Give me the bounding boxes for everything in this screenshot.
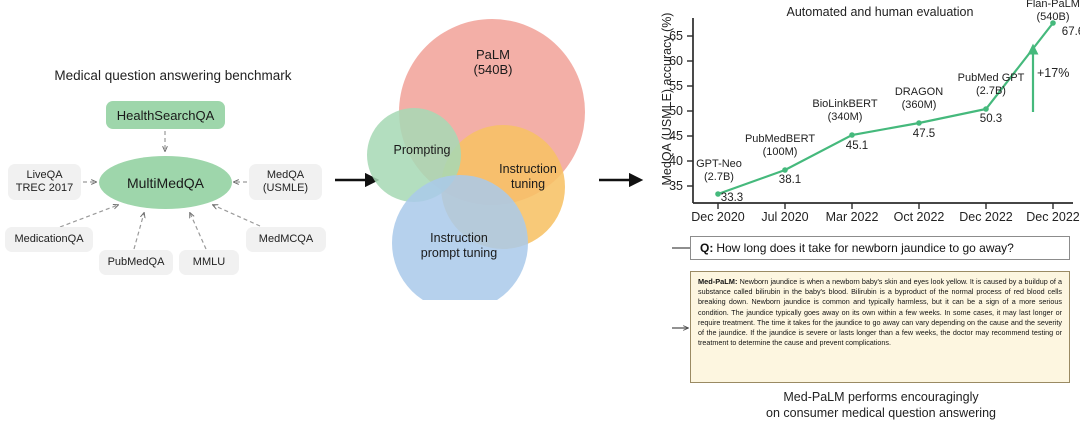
chart-point-label-flan-palm-line1: Flan-PaLM	[1026, 0, 1080, 10]
chart-point-label-dragon-line2: (360M)	[902, 99, 937, 111]
arrow-mmlu-to-center	[190, 213, 206, 249]
chart-point-label-flan-palm-line2: (540B)	[1036, 11, 1069, 23]
chart-point-label-dragon-line1: DRAGON	[895, 86, 943, 98]
node-multimedqa[interactable]: MultiMedQA	[99, 156, 232, 209]
node-medqa-line1: MedQA	[267, 169, 304, 181]
venn-label-ipt-line1: Instruction	[430, 231, 488, 245]
qa-question-prefix: Q:	[700, 241, 713, 255]
qa-panel: Q: How long does it take for newborn jau…	[672, 232, 1080, 428]
chart-ytick-45: 45	[661, 129, 683, 143]
chart-point-label-pubmedbert-line1: PubMedBERT	[745, 133, 815, 145]
qa-answer-prefix: Med-PaLM:	[698, 277, 737, 286]
benchmark-panel: Medical question answering benchmark Hea…	[0, 0, 345, 300]
node-medqa[interactable]: MedQA (USMLE)	[249, 164, 322, 200]
chart-xtick-3: Oct 2022	[883, 210, 955, 224]
venn-label-it-line2: tuning	[511, 177, 545, 191]
qa-answer-text: Newborn jaundice is when a newborn baby'…	[698, 277, 1062, 347]
chart-xtick-0: Dec 2020	[682, 210, 754, 224]
node-medmcqa[interactable]: MedMCQA	[246, 227, 326, 252]
venn-panel: PaLM (540B) Prompting Instruction tuning…	[345, 0, 595, 300]
chart-point-label-pubmed-gpt: PubMed GPT (2.7B)	[949, 72, 1033, 97]
node-liveqa[interactable]: LiveQA TREC 2017	[8, 164, 81, 200]
chart-xtick-5: Dec 2022	[1017, 210, 1080, 224]
node-medicationqa[interactable]: MedicationQA	[5, 227, 93, 252]
chart-point-label-pubmedbert-line2: (100M)	[763, 146, 798, 158]
chart-point-label-flan-palm: Flan-PaLM (540B)	[1015, 0, 1080, 23]
flow-arrow-2	[597, 167, 649, 193]
venn-label-instruction-tuning: Instruction tuning	[485, 162, 571, 192]
qa-caption: Med-PaLM performs encouragingly on consu…	[692, 389, 1070, 421]
node-liveqa-line1: LiveQA	[26, 169, 62, 181]
node-mmlu[interactable]: MMLU	[179, 250, 239, 275]
venn-label-palm: PaLM (540B)	[448, 47, 538, 77]
chart-xtick-4: Dec 2022	[950, 210, 1022, 224]
qa-caption-line2: on consumer medical question answering	[766, 406, 996, 420]
qa-answer-box[interactable]: Med-PaLM: Newborn jaundice is when a new…	[690, 271, 1070, 383]
qa-question-box[interactable]: Q: How long does it take for newborn jau…	[690, 236, 1070, 260]
chart-point-label-biolinkbert: BioLinkBERT (340M)	[800, 98, 890, 123]
chart-point-label-gpt-neo: GPT-Neo (2.7B)	[688, 158, 750, 183]
venn-label-ipt-line2: prompt tuning	[421, 246, 497, 260]
chart-point-label-pubmed-gpt-line2: (2.7B)	[976, 85, 1006, 97]
venn-label-palm-line2: (540B)	[473, 62, 512, 77]
chart-point-label-gpt-neo-line2: (2.7B)	[704, 171, 734, 183]
node-healthsearchqa[interactable]: HealthSearchQA	[106, 101, 225, 129]
node-medqa-line2: (USMLE)	[263, 182, 308, 194]
chart-value-67-6: 67.6	[1053, 26, 1080, 38]
chart-value-47-5: 47.5	[904, 128, 944, 140]
qa-caption-line1: Med-PaLM performs encouragingly	[783, 390, 978, 404]
chart-ytick-35: 35	[661, 179, 683, 193]
qa-question-text: How long does it take for newborn jaundi…	[716, 241, 1014, 255]
evaluation-chart-panel: Automated and human evaluation MedQA (US…	[645, 0, 1080, 228]
chart-point-label-dragon: DRAGON (360M)	[882, 86, 956, 111]
venn-label-it-line1: Instruction	[499, 162, 557, 176]
chart-xtick-2: Mar 2022	[816, 210, 888, 224]
chart-ytick-60: 60	[661, 54, 683, 68]
arrow-pubmedqa-to-center	[134, 213, 144, 249]
chart-ytick-40: 40	[661, 154, 683, 168]
chart-point-label-pubmed-gpt-line1: PubMed GPT	[958, 72, 1025, 84]
arrow-medmcqa-to-center	[213, 205, 260, 226]
chart-ytick-65: 65	[661, 29, 683, 43]
chart-value-38-1: 38.1	[770, 174, 810, 186]
chart-ytick-55: 55	[661, 79, 683, 93]
chart-annotation-improvement: +17%	[1037, 66, 1069, 80]
chart-value-33-3: 33.3	[712, 192, 752, 204]
chart-value-45-1: 45.1	[837, 140, 877, 152]
venn-label-prompting: Prompting	[379, 143, 465, 158]
chart-ytick-50: 50	[661, 104, 683, 118]
venn-label-instruction-prompt-tuning: Instruction prompt tuning	[405, 231, 513, 261]
chart-point-label-gpt-neo-line1: GPT-Neo	[696, 158, 742, 170]
chart-point-label-pubmedbert: PubMedBERT (100M)	[738, 133, 822, 158]
arrow-medicationqa-to-center	[60, 205, 118, 227]
node-pubmedqa[interactable]: PubMedQA	[99, 250, 173, 275]
chart-point-label-biolinkbert-line2: (340M)	[828, 111, 863, 123]
chart-point-label-biolinkbert-line1: BioLinkBERT	[812, 98, 877, 110]
chart-xtick-1: Jul 2020	[749, 210, 821, 224]
chart-value-50-3: 50.3	[971, 113, 1011, 125]
node-liveqa-line2: TREC 2017	[16, 182, 73, 194]
venn-label-palm-line1: PaLM	[476, 47, 510, 62]
